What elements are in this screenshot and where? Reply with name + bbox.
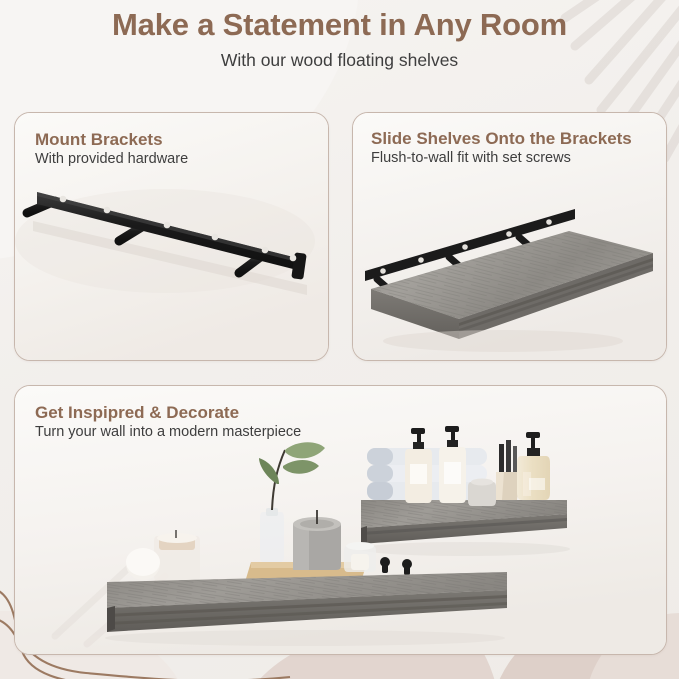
toothbrush-cup — [496, 440, 520, 500]
card-slide-text: Slide Shelves Onto the Brackets Flush-to… — [371, 129, 637, 167]
card-mount-subtitle: With provided hardware — [35, 151, 295, 168]
card-mount-brackets: Mount Brackets With provided hardware — [14, 112, 329, 361]
card-mount-title: Mount Brackets — [35, 130, 295, 149]
round-jar — [468, 479, 496, 507]
card-get-inspired: Get Inspipred & Decorate Turn your wall … — [14, 385, 667, 655]
page-title: Make a Statement in Any Room — [0, 8, 679, 42]
page-subtitle: With our wood floating shelves — [0, 51, 679, 70]
card-slide-title: Slide Shelves Onto the Brackets — [371, 129, 637, 148]
card-decorate-title: Get Inspipred & Decorate — [35, 403, 335, 422]
card-mount-text: Mount Brackets With provided hardware — [35, 130, 295, 168]
small-glass-jar — [344, 542, 376, 572]
card-slide-subtitle: Flush-to-wall fit with set screws — [371, 150, 637, 167]
infographic-poster: Make a Statement in Any Room With our wo… — [0, 0, 679, 679]
header: Make a Statement in Any Room With our wo… — [0, 8, 679, 70]
card-decorate-text: Get Inspipred & Decorate Turn your wall … — [35, 403, 335, 441]
card-decorate-subtitle: Turn your wall into a modern masterpiece — [35, 424, 335, 441]
card-slide-shelves: Slide Shelves Onto the Brackets Flush-to… — [352, 112, 667, 361]
